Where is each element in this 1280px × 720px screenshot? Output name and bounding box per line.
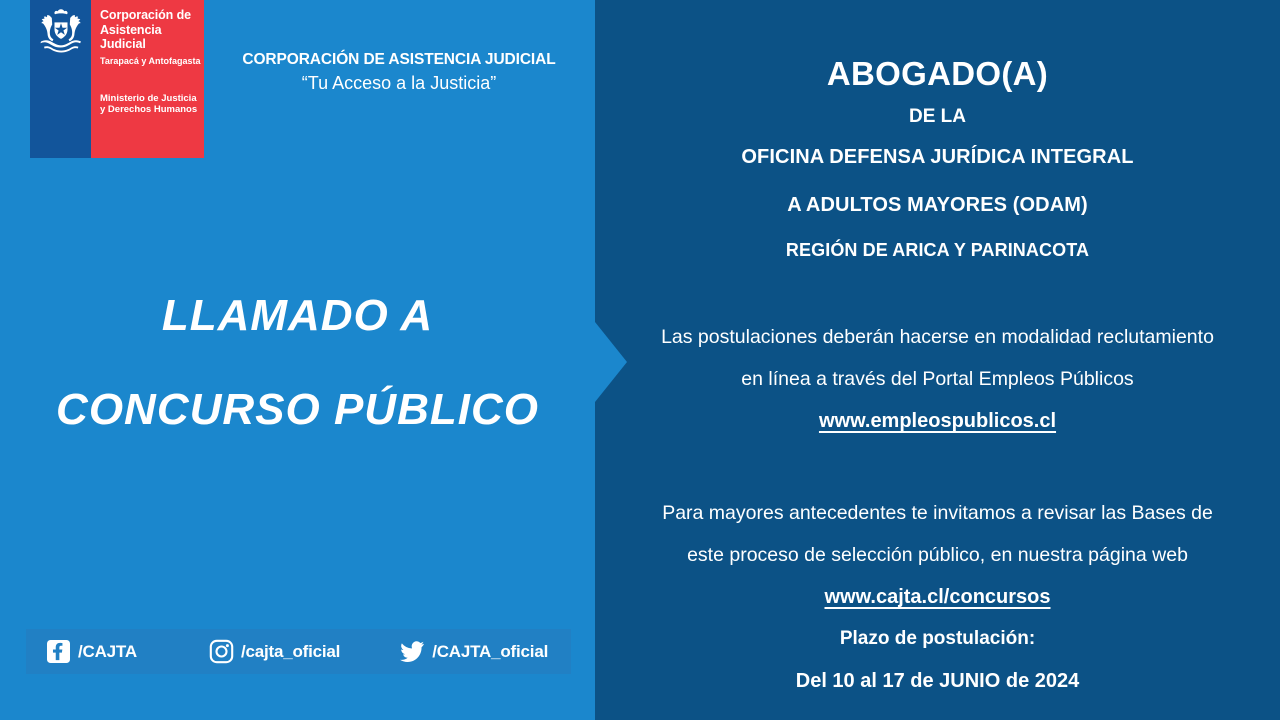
- social-link-instagram[interactable]: /cajta_oficial: [209, 639, 340, 664]
- deadline-label: Plazo de postulación:: [595, 618, 1280, 660]
- deadline-value: Del 10 al 17 de JUNIO de 2024: [595, 660, 1280, 702]
- application-instructions: Las postulaciones deberán hacerse en mod…: [595, 316, 1280, 442]
- social-link-twitter[interactable]: /CAJTA_oficial: [400, 639, 548, 664]
- twitter-handle: /CAJTA_oficial: [432, 642, 548, 662]
- region-name: REGIÓN DE ARICA Y PARINACOTA: [595, 240, 1280, 261]
- organization-name: CORPORACIÓN DE ASISTENCIA JUDICIAL: [214, 50, 584, 70]
- social-link-facebook[interactable]: /CAJTA: [46, 639, 137, 664]
- instagram-handle: /cajta_oficial: [241, 642, 340, 662]
- right-panel: ABOGADO(A) DE LA OFICINA DEFENSA JURÍDIC…: [595, 0, 1280, 720]
- job-connector: DE LA: [595, 106, 1280, 128]
- twitter-icon: [400, 639, 425, 664]
- facebook-icon: [46, 639, 71, 664]
- job-title: ABOGADO(A): [595, 55, 1280, 93]
- more-info-block: Para mayores antecedentes te invitamos a…: [595, 492, 1280, 702]
- chile-coat-of-arms-icon: [35, 8, 87, 54]
- social-media-bar: /CAJTA /cajta_oficial /CAJTA_oficial: [26, 629, 571, 674]
- info-line1: Para mayores antecedentes te invitamos a…: [595, 492, 1280, 534]
- poster-title-line1: LLAMADO A: [0, 288, 595, 344]
- office-name-line1: OFICINA DEFENSA JURÍDICA INTEGRAL: [595, 146, 1280, 169]
- logo-red-block: Corporación de Asistencia Judicial Tarap…: [91, 0, 204, 158]
- info-line2: este proceso de selección público, en nu…: [595, 534, 1280, 576]
- empleos-publicos-link[interactable]: www.empleospublicos.cl: [819, 400, 1056, 442]
- poster-title-line2: CONCURSO PÚBLICO: [0, 382, 595, 438]
- poster-title: LLAMADO A CONCURSO PÚBLICO: [0, 288, 595, 438]
- office-name-line2: A ADULTOS MAYORES (ODAM): [595, 194, 1280, 217]
- application-line1: Las postulaciones deberán hacerse en mod…: [595, 316, 1280, 358]
- cajta-logo: Corporación de Asistencia Judicial Tarap…: [30, 0, 204, 158]
- logo-ministry-label: Ministerio de Justicia y Derechos Humano…: [100, 93, 204, 116]
- logo-institution-label: Corporación de Asistencia Judicial: [100, 8, 204, 52]
- logo-blue-block: [30, 0, 91, 158]
- instagram-icon: [209, 639, 234, 664]
- logo-regions-label: Tarapacá y Antofagasta: [100, 56, 204, 67]
- organization-slogan: “Tu Acceso a la Justicia”: [214, 70, 584, 96]
- poster-canvas: Corporación de Asistencia Judicial Tarap…: [0, 0, 1280, 720]
- cajta-concursos-link[interactable]: www.cajta.cl/concursos: [824, 576, 1050, 618]
- application-line2: en línea a través del Portal Empleos Púb…: [595, 358, 1280, 400]
- facebook-handle: /CAJTA: [78, 642, 137, 662]
- left-header: CORPORACIÓN DE ASISTENCIA JUDICIAL “Tu A…: [214, 50, 584, 96]
